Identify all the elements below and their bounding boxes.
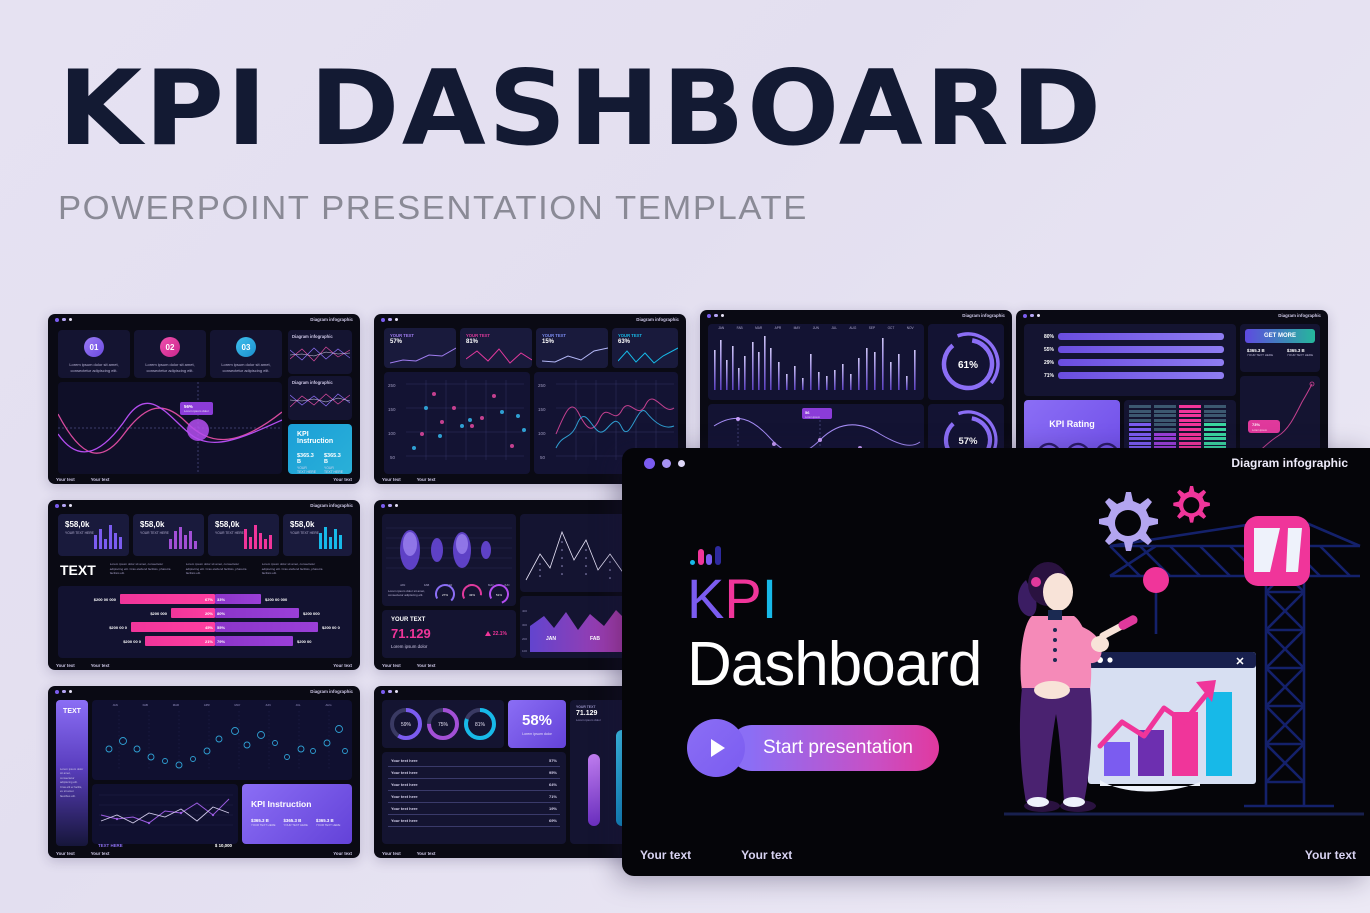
footer-text: Your text (417, 477, 436, 482)
stat-value: 71.129 (391, 626, 431, 641)
bidirectional-bar-chart[interactable]: $200 00 000 67% 33% $200 00 000 $200 000… (58, 586, 352, 658)
window-dot-icon (395, 318, 398, 321)
kpi-subtext: YOUR TEXT HERE (316, 823, 340, 827)
slide-tag: Diagram infographic (636, 317, 679, 322)
window-dot-icon (388, 504, 392, 508)
footer-text: Your text (741, 848, 792, 862)
kpi-instruction-card[interactable]: KPI Instruction $365.3 B YOUR TEXT HERE … (242, 784, 352, 844)
get-more-label: GET MORE (1264, 333, 1296, 339)
progress-row: 71% (1034, 372, 1226, 379)
gear-icon (1173, 486, 1210, 523)
kpi-letter-p: P (724, 567, 761, 630)
slide-thumbnail-5[interactable]: Diagram infographic $58,0k YOUR TEXT HER… (48, 500, 360, 670)
list-item[interactable]: Your text here 19% (388, 803, 560, 815)
stat-value: $58,0k (215, 520, 244, 529)
bi-left-pct: 67% (205, 597, 213, 602)
progress-value: 55% (1034, 347, 1054, 353)
window-dot-icon (714, 314, 718, 318)
window-dot-icon (395, 690, 398, 693)
marker-caption: Lorem ipsum dolor (184, 409, 209, 413)
stat-subtext: YOUR TEXT HERE (290, 531, 319, 536)
progress-bars-panel[interactable]: 80% 55% 29% 71% (1024, 324, 1236, 396)
svg-text:250: 250 (538, 383, 546, 388)
page-title: KPI DASHBOARD (58, 60, 1104, 158)
mini-chart-panel[interactable]: Diagram infographic (288, 376, 352, 420)
mini-panel-title: Diagram infographic (288, 330, 352, 339)
lorem-text: Lorem ipsum dolor sit amet, consectetur … (186, 562, 248, 576)
badge-value: 73% (1252, 422, 1260, 427)
svg-text:FAB: FAB (590, 636, 600, 642)
list-item-label: Your text here (391, 782, 418, 787)
slide-tag: Diagram infographic (310, 689, 353, 694)
list-item-value: 64% (549, 782, 557, 787)
kpi-instruction-card[interactable]: KPI Instruction $365.3 B YOUR TEXT HERE … (288, 424, 352, 474)
donut-value: 61% (958, 360, 978, 371)
donut-value: 59% (401, 722, 412, 728)
hero-heading: Dashboard (687, 631, 981, 699)
slide-footer: Your text Your text (382, 851, 435, 856)
svg-text:Lorem ipsum: Lorem ipsum (1252, 428, 1267, 432)
hero-content: KPI Dashboard Start presentation (687, 543, 981, 777)
bi-left-label: $200 000 (64, 611, 171, 616)
window-dot-icon (1030, 314, 1034, 318)
side-text: Lorem ipsum dolor sit amet, consectetur … (56, 715, 88, 798)
footer-text: Your text (417, 851, 436, 856)
chart-window-icon: ✕ (1088, 652, 1256, 792)
color-block-column (1129, 405, 1151, 449)
stat-card-value: 63% (618, 339, 672, 345)
slide-footer: Your text Your text (56, 851, 109, 856)
chart-value: $ 10,000 (215, 843, 232, 848)
gauge-set: 27% 43% 51% (432, 581, 510, 605)
slide-tag: Diagram infographic (962, 313, 1005, 318)
window-dot-icon[interactable] (662, 459, 671, 468)
wave-chart[interactable]: 56% Lorem ipsum dolor (58, 382, 282, 474)
side-heading: TEXT (56, 708, 88, 715)
window-dot-icon (395, 504, 398, 507)
svg-text:100: 100 (538, 431, 546, 436)
stat-card[interactable]: YOUR TEXT 81% (460, 328, 532, 368)
progress-bar (1058, 346, 1224, 353)
footer-text: Your text (640, 848, 691, 862)
stat-subtext: YOUR TEXT HERE (65, 531, 94, 536)
stat-card-label: YOUR TEXT (542, 333, 602, 338)
bi-right-pct: 80% (217, 611, 225, 616)
kpi-value-block: $365.3 B YOUR TEXT HERE (1247, 348, 1273, 357)
progress-bar (1058, 372, 1224, 379)
line-svg (95, 787, 237, 833)
list-item-label: Your text here (391, 806, 418, 811)
stat-value: $58,0k (290, 520, 319, 529)
window-dot-icon (388, 690, 392, 694)
progress-row: 29% (1034, 359, 1226, 366)
footer-text: Your text (382, 851, 401, 856)
kpi-subtext: YOUR TEXT HERE (283, 823, 307, 827)
bi-left-pct: 20% (205, 611, 213, 616)
bi-right-label: $200 00 0 (318, 625, 340, 630)
kpi-subtext: YOUR TEXT HERE (251, 823, 275, 827)
kpi-letter-i: I (762, 567, 778, 630)
stat-card-label: YOUR TEXT (618, 333, 672, 338)
marker-caption: Lorem ipsum (805, 415, 820, 419)
kpi-value: $365.3 B (297, 453, 316, 465)
wave-chart-svg (58, 382, 282, 474)
window-dot-icon (62, 690, 66, 694)
number-card-text: Lorem ipsum dolor sit amet, consectetur … (58, 362, 130, 374)
get-more-panel[interactable]: GET MORE $365.3 B YOUR TEXT HERE $365.3 … (1240, 324, 1320, 372)
list-item[interactable]: Your text here 95% (388, 767, 560, 779)
kpi-wordmark: KPI (687, 571, 981, 627)
gauge-value: 27% (442, 593, 448, 597)
list-item-value: 95% (549, 770, 557, 775)
footer-text: Your text (91, 851, 110, 856)
scatter-svg (95, 709, 349, 775)
start-presentation-button[interactable]: Start presentation (729, 725, 939, 771)
window-dot-icon (381, 318, 385, 322)
stat-card[interactable]: $58,0k YOUR TEXT HERE (283, 514, 352, 556)
kpi-letter-k: K (687, 567, 724, 630)
stat-subtext: YOUR TEXT HERE (215, 531, 244, 536)
kpi-card-title: KPI Instruction (251, 799, 343, 809)
kpi-list-panel[interactable]: Your text here 57% Your text here 95% Yo… (382, 752, 566, 844)
crane-hook-icon (1143, 567, 1169, 593)
window-dot-icon (69, 504, 72, 507)
color-block-column (1204, 405, 1226, 449)
stat-card-value: 81% (466, 339, 526, 345)
lorem-text: Lorem ipsum dolor sit amet, consectetur … (110, 562, 172, 576)
mini-panel-title: Diagram infographic (288, 376, 352, 385)
stat-card[interactable]: YOUR TEXT 15% (536, 328, 608, 368)
marker-value: 56 (805, 410, 810, 415)
delta-value: 22.1% (493, 631, 507, 637)
bi-left-label: $200 00 0 (64, 639, 145, 644)
big-percent-card[interactable]: 58% Lorem ipsum dolor (508, 700, 566, 748)
window-dot-icon (381, 690, 385, 694)
donut-value: 75% (438, 722, 449, 728)
slide-footer: Your text Your text (56, 663, 109, 668)
donut-row-panel[interactable]: 59% 75% 81% (382, 700, 504, 748)
donut-value: 57% (958, 436, 978, 447)
bi-bar-row: $200 000 20% 80% $200 000 (64, 608, 346, 618)
kpi-rating-title: KPI Rating (1033, 419, 1111, 429)
kpi-subtext: YOUR TEXT HERE (297, 466, 316, 474)
kpi-stat-panel[interactable]: YOUR TEXT 71.129 22.1% Lorem ipsum dolor (382, 610, 516, 658)
stat-value: $58,0k (140, 520, 169, 529)
window-dot-icon (707, 314, 711, 318)
footer-text-right: Your text (333, 851, 352, 856)
footer-text: Your text (91, 663, 110, 668)
progress-bar (1058, 359, 1224, 366)
stat-card[interactable]: $58,0k YOUR TEXT HERE (58, 514, 129, 556)
window-dot-icon (62, 318, 66, 322)
big-percent-caption: Lorem ipsum dolor (517, 732, 557, 736)
footer-text: Your text (56, 663, 75, 668)
close-icon: ✕ (1235, 656, 1244, 668)
window-dot-icon (1037, 314, 1040, 317)
donut-svg: 61% (928, 324, 1004, 400)
number-card-text: Lorem ipsum dolor sit amet, consectetur … (134, 362, 206, 374)
list-item-value: 69% (549, 818, 557, 823)
svg-text:50: 50 (390, 455, 396, 460)
number-card[interactable]: 01 Lorem ipsum dolor sit amet, consectet… (58, 330, 130, 378)
stat-subtext: Lorem ipsum dolor (391, 644, 507, 649)
bi-left-pct: 45% (205, 625, 213, 630)
progress-row: 80% (1034, 333, 1226, 340)
window-dot-icon[interactable] (678, 460, 685, 467)
bi-left-label: $200 00 000 (64, 597, 120, 602)
window-dot-icon (388, 318, 392, 322)
page-header: KPI DASHBOARD POWERPOINT PRESENTATION TE… (58, 60, 944, 227)
window-dot-icon[interactable] (644, 458, 655, 469)
sparkline (466, 347, 532, 365)
kpi-value-block: $365.3 B YOUR TEXT HERE (283, 818, 307, 827)
mini-bars (169, 521, 197, 549)
color-block-column (1179, 405, 1201, 449)
gear-icon (1099, 492, 1158, 551)
window-dot-icon (69, 318, 72, 321)
bi-right-label: $200 000 (299, 611, 320, 616)
bi-right-label: $200 00 (293, 639, 311, 644)
stat-card-value: 15% (542, 339, 602, 345)
window-dot-icon (62, 504, 66, 508)
slide-footer: Your text Your text (382, 663, 435, 668)
stat-value: $58,0k (65, 520, 94, 529)
bar-chart-svg (708, 332, 924, 394)
list-item-value: 57% (549, 758, 557, 763)
svg-text:50: 50 (540, 455, 546, 460)
page-subtitle: POWERPOINT PRESENTATION TEMPLATE (58, 189, 988, 227)
number-card[interactable]: 02 Lorem ipsum dolor sit amet, consectet… (134, 330, 206, 378)
number-badge: 02 (160, 337, 180, 357)
bi-bar-row: $200 00 000 67% 33% $200 00 000 (64, 594, 346, 604)
stat-card[interactable]: $58,0k YOUR TEXT HERE (133, 514, 204, 556)
window-dot-icon (381, 504, 385, 508)
lorem-text: Lorem ipsum dolor sit amet, consectetur … (262, 562, 324, 576)
window-dot-icon (721, 314, 724, 317)
list-item-value: 71% (549, 794, 557, 799)
delta-up-icon (485, 631, 491, 636)
bar-chart[interactable]: JAN FAB MAR APR MAY JUN JUL AUG SEP OCT … (708, 324, 924, 400)
svg-text:250: 250 (388, 383, 396, 388)
kpi-value-block: $365.3 B YOUR TEXT HERE (251, 818, 275, 827)
bi-bar-row: $200 00 0 21% 79% $200 00 (64, 636, 346, 646)
slide-thumbnail-1[interactable]: Diagram infographic 01 Lorem ipsum dolor… (48, 314, 360, 484)
month-axis: JAN FAB MAR APR MAY JUN JUL AUG (92, 700, 352, 707)
svg-text:200: 200 (522, 637, 527, 641)
stat-card[interactable]: YOUR TEXT 57% (384, 328, 456, 368)
mini-bars (94, 521, 122, 549)
kpi-value-block: $365.3 B YOUR TEXT HERE (1287, 348, 1313, 357)
slide-footer: Your text Your text (56, 477, 109, 482)
gauges-row[interactable]: Lorem ipsum dolor sit amet, consectetur … (382, 578, 516, 608)
footer-text: Your text (56, 851, 75, 856)
footer-text: Your text (382, 477, 401, 482)
text-heading: TEXT (60, 562, 96, 578)
stat-card-label: YOUR TEXT (466, 333, 526, 338)
chart-label: TEXT HERE (98, 843, 123, 848)
list-item-value: 19% (549, 806, 557, 811)
kpi-subtext: YOUR TEXT HERE (1247, 353, 1273, 357)
window-dot-icon (55, 504, 59, 508)
window-dot-icon (69, 690, 72, 693)
bi-right-label: $200 00 000 (261, 597, 287, 602)
list-item[interactable]: Your text here 57% (388, 755, 560, 767)
donut-chart-61[interactable]: 61% (928, 324, 1004, 400)
stat-label: YOUR TEXT (391, 617, 507, 623)
kpi-value: $365.3 B (324, 453, 343, 465)
number-badge: 01 (84, 337, 104, 357)
sparkline (542, 347, 608, 365)
scatter-chart-svg: 250 150 100 50 (384, 372, 530, 474)
kpi-value-block: $365.3 B YOUR TEXT HERE (316, 818, 340, 827)
list-item-label: Your text here (391, 770, 418, 775)
crane-cabin-icon (1244, 516, 1310, 586)
get-more-button[interactable]: GET MORE (1245, 329, 1315, 343)
window-dot-icon (55, 690, 59, 694)
bi-right-pct: 55% (217, 625, 225, 630)
bi-right-pct: 33% (217, 597, 225, 602)
text-heading-row: TEXT Lorem ipsum dolor sit amet, consect… (60, 562, 352, 578)
start-presentation-label: Start presentation (763, 737, 913, 759)
hero-tag: Diagram infographic (1231, 456, 1348, 470)
slide-tag: Diagram infographic (310, 317, 353, 322)
list-item-label: Your text here (391, 794, 418, 799)
list-item[interactable]: Your text here 71% (388, 791, 560, 803)
progress-value: 29% (1034, 360, 1054, 366)
footer-text-right: Your text (333, 477, 352, 482)
kpi-card-title: KPI Instruction (297, 431, 343, 445)
stat-subtext: YOUR TEXT HERE (140, 531, 169, 536)
bi-left-label: $200 00 0 (64, 625, 131, 630)
side-text-panel[interactable]: TEXT Lorem ipsum dolor sit amet, consect… (56, 700, 88, 846)
start-presentation-group[interactable]: Start presentation (687, 719, 981, 777)
bi-right-pct: 79% (217, 639, 225, 644)
footer-text: Your text (417, 663, 436, 668)
slide-footer: Your text Your text (382, 477, 435, 482)
color-block-column (1154, 405, 1176, 449)
list-item[interactable]: Your text here 64% (388, 779, 560, 791)
number-card[interactable]: 03 Lorem ipsum dolor sit amet, consectet… (210, 330, 282, 378)
svg-text:JAN: JAN (546, 636, 556, 642)
svg-text:150: 150 (538, 407, 546, 412)
footer-text-right: Your text (1305, 848, 1356, 862)
slide-thumbnail-7[interactable]: Diagram infographic TEXT Lorem ipsum dol… (48, 686, 360, 858)
bi-bar-row: $200 00 0 45% 55% $200 00 0 (64, 622, 346, 632)
featured-slide[interactable]: Diagram infographic KPI Dashboard Start … (622, 448, 1370, 876)
stat-card-label: YOUR TEXT (390, 333, 450, 338)
sparkline (618, 347, 678, 365)
stat-card-value: 57% (390, 339, 450, 345)
window-dot-icon (55, 318, 59, 322)
mini-bars (319, 521, 345, 549)
footer-text: Your text (91, 477, 110, 482)
footer-text: Your text (56, 477, 75, 482)
footer-text-right: Your text (333, 663, 352, 668)
svg-text:300: 300 (522, 623, 527, 627)
donut-value: 81% (475, 722, 486, 728)
number-badge: 03 (236, 337, 256, 357)
list-item-label: Your text here (391, 758, 418, 763)
svg-text:400: 400 (522, 609, 527, 613)
mini-line-chart (290, 341, 350, 369)
progress-row: 55% (1034, 346, 1226, 353)
slide-tag: Diagram infographic (310, 503, 353, 508)
gauge-value: 43% (469, 593, 475, 597)
sparkline (390, 347, 456, 365)
hero-footer: Your text Your text (640, 848, 792, 862)
window-dot-icon (1023, 314, 1027, 318)
kpi-subtext: YOUR TEXT HERE (324, 466, 343, 474)
kpi-logo-icon (690, 543, 981, 565)
line-chart-panel[interactable]: TEXT HERE $ 10,000 (92, 784, 238, 844)
progress-bar (1058, 333, 1224, 340)
svg-text:100: 100 (388, 431, 396, 436)
lorem-text: Lorem ipsum dolor sit amet, consectetur … (388, 589, 427, 598)
gauge-value: 51% (496, 593, 502, 597)
stat-card[interactable]: $58,0k YOUR TEXT HERE (208, 514, 279, 556)
dot-scatter-chart[interactable]: JAN FAB MAR APR MAY JUN JUL AUG (92, 700, 352, 780)
mini-chart-panel[interactable]: Diagram infographic (288, 330, 352, 374)
hero-illustration: ✕ (1004, 484, 1364, 836)
donut-row-svg: 59% 75% 81% (384, 702, 502, 746)
mini-line-chart (290, 387, 350, 415)
stat-card[interactable]: YOUR TEXT 63% (612, 328, 678, 368)
play-icon[interactable] (687, 719, 745, 777)
big-percent-value: 58% (517, 712, 557, 729)
list-item-label: Your text here (391, 818, 418, 823)
scatter-chart[interactable]: 250 150 100 50 (384, 372, 530, 474)
progress-value: 71% (1034, 373, 1054, 379)
slide-tag: Diagram infographic (1278, 313, 1321, 318)
progress-value: 80% (1034, 334, 1054, 340)
mini-bars (244, 521, 272, 549)
month-axis: JAN FAB MAR APR MAY JUN JUL AUG SEP OCT … (708, 324, 924, 330)
number-card-text: Lorem ipsum dolor sit amet, consectetur … (210, 362, 282, 374)
list-item[interactable]: Your text here 69% (388, 815, 560, 827)
kpi-subtext: YOUR TEXT HERE (1287, 353, 1313, 357)
svg-text:100: 100 (522, 649, 527, 653)
footer-text: Your text (382, 663, 401, 668)
bi-left-pct: 21% (205, 639, 213, 644)
svg-text:150: 150 (388, 407, 396, 412)
